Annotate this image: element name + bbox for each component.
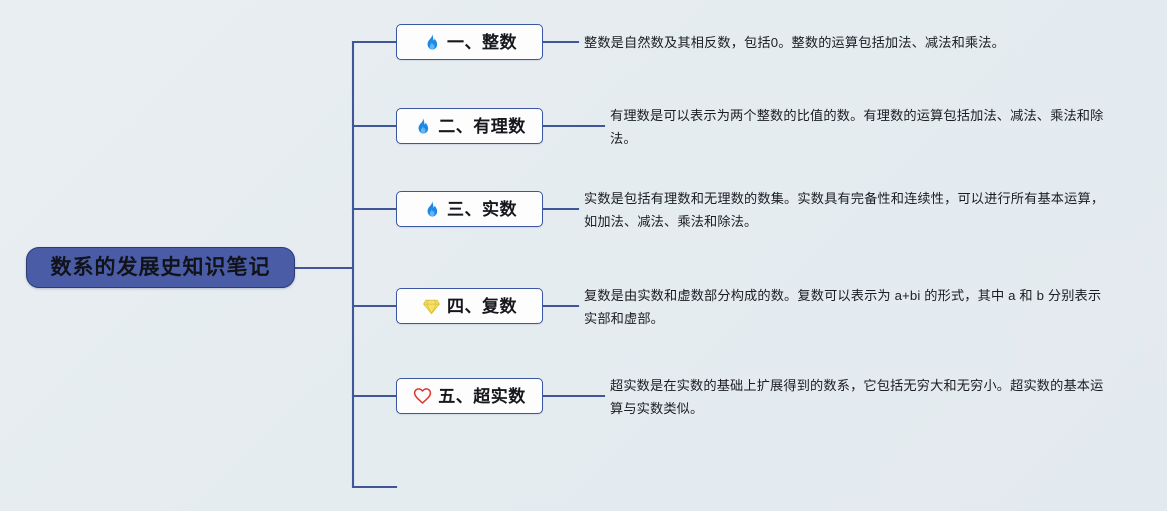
- branch-description-4: 复数是由实数和虚数部分构成的数。复数可以表示为 a+bi 的形式，其中 a 和 …: [584, 285, 1114, 330]
- branch-node-1-label: 一、整数: [447, 34, 517, 51]
- fire-icon: [413, 117, 432, 136]
- fire-icon: [422, 33, 441, 52]
- branch-node-2-label: 二、有理数: [438, 118, 526, 135]
- branch-node-3-label: 三、实数: [447, 201, 517, 218]
- branch-node-5-label: 五、超实数: [438, 388, 526, 405]
- gem-icon: [422, 297, 441, 316]
- branch-node-5[interactable]: 五、超实数: [396, 378, 543, 414]
- root-node[interactable]: 数系的发展史知识笔记: [26, 247, 295, 288]
- branch-node-4[interactable]: 四、复数: [396, 288, 543, 324]
- root-node-label: 数系的发展史知识笔记: [51, 257, 271, 278]
- fire-icon: [422, 200, 441, 219]
- branch-description-2: 有理数是可以表示为两个整数的比值的数。有理数的运算包括加法、减法、乘法和除法。: [610, 105, 1114, 150]
- branch-node-3[interactable]: 三、实数: [396, 191, 543, 227]
- branch-description-3: 实数是包括有理数和无理数的数集。实数具有完备性和连续性，可以进行所有基本运算，如…: [584, 188, 1114, 233]
- branch-node-4-label: 四、复数: [447, 298, 517, 315]
- heart-icon: [413, 387, 432, 406]
- branch-node-2[interactable]: 二、有理数: [396, 108, 543, 144]
- mindmap-canvas: 数系的发展史知识笔记 一、整数 二、有理数 三、实数 四、复数: [0, 0, 1167, 511]
- branch-node-1[interactable]: 一、整数: [396, 24, 543, 60]
- branch-description-1: 整数是自然数及其相反数，包括0。整数的运算包括加法、减法和乘法。: [584, 32, 1114, 55]
- branch-description-5: 超实数是在实数的基础上扩展得到的数系，它包括无穷大和无穷小。超实数的基本运算与实…: [610, 375, 1114, 420]
